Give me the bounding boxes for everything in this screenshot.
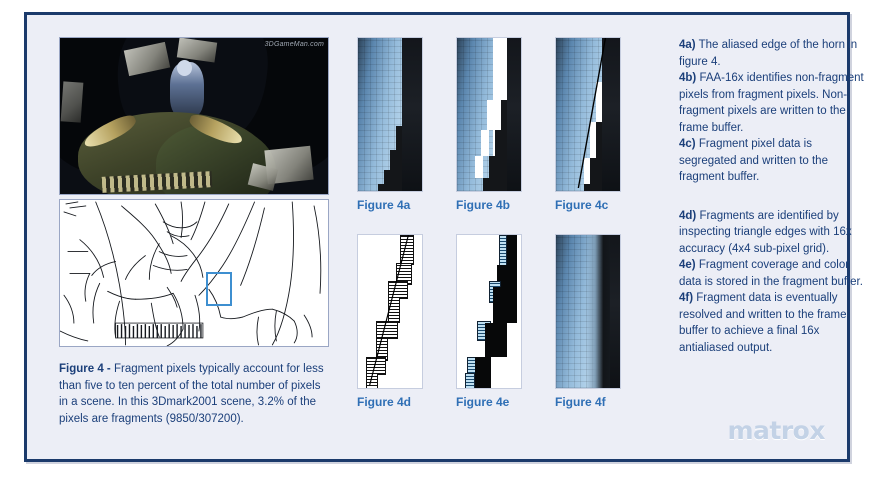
3dmark2001-scene-image: 3DGameMan.com bbox=[59, 37, 329, 195]
figure-cell-4a: Figure 4a bbox=[357, 37, 423, 212]
figure-4c-label: Figure 4c bbox=[555, 198, 621, 212]
description-4e: 4e) Fragment coverage and color data is … bbox=[679, 257, 869, 290]
label-4b: 4b) bbox=[679, 72, 696, 84]
zoom-highlight-rectangle bbox=[206, 272, 232, 306]
text-4a: The aliased edge of the horn in figure 4… bbox=[679, 39, 857, 68]
right-column: 4a) The aliased edge of the horn in figu… bbox=[679, 37, 869, 356]
text-4e: Fragment coverage and color data is stor… bbox=[679, 259, 863, 288]
fragment-color-block-1 bbox=[499, 235, 507, 267]
label-4f: 4f) bbox=[679, 292, 693, 304]
figure-4d-label: Figure 4d bbox=[357, 395, 423, 409]
dark-region bbox=[402, 38, 423, 191]
label-4c: 4c) bbox=[679, 138, 696, 150]
figure-4-caption: Figure 4 - Fragment pixels typically acc… bbox=[59, 361, 327, 427]
dark-region bbox=[507, 38, 522, 191]
caption-lead: Figure 4 - bbox=[59, 363, 111, 375]
document-panel: 3DGameMan.com bbox=[24, 12, 850, 462]
description-4a: 4a) The aliased edge of the horn in figu… bbox=[679, 37, 869, 70]
figure-row-2: Figure 4d Figure 4e bbox=[357, 234, 647, 409]
matrox-logo: matrox bbox=[727, 416, 825, 445]
figure-4e-label: Figure 4e bbox=[456, 395, 522, 409]
white-notch-3 bbox=[475, 156, 483, 178]
label-4d: 4d) bbox=[679, 210, 696, 222]
stair-step-2 bbox=[495, 130, 501, 191]
figure-4b-image bbox=[456, 37, 522, 192]
figure-cell-4d: Figure 4d bbox=[357, 234, 423, 409]
label-4a: 4a) bbox=[679, 39, 696, 51]
white-notch-1 bbox=[487, 100, 495, 130]
stair-step-3 bbox=[489, 156, 495, 191]
text-4c: Fragment pixel data is segregated and wr… bbox=[679, 138, 828, 183]
scene-watermark: 3DGameMan.com bbox=[265, 41, 324, 48]
figure-4b-label: Figure 4b bbox=[456, 198, 522, 212]
stair-step-4 bbox=[378, 184, 384, 191]
figure-4c-image bbox=[555, 37, 621, 192]
text-4f: Fragment data is eventually resolved and… bbox=[679, 292, 846, 354]
figure-4a-label: Figure 4a bbox=[357, 198, 423, 212]
black-fill-3 bbox=[493, 287, 517, 323]
debris-block-5 bbox=[61, 81, 84, 122]
fragment-color-block-5 bbox=[465, 373, 475, 389]
figure-cell-4f: Figure 4f bbox=[555, 234, 621, 409]
black-fill-5 bbox=[475, 357, 491, 389]
figure-cell-4c: Figure 4c bbox=[555, 37, 621, 212]
triangle-edge-line bbox=[556, 38, 620, 188]
description-block-2: 4d) Fragments are identified by inspecti… bbox=[679, 208, 869, 357]
description-4f: 4f) Fragment data is eventually resolved… bbox=[679, 290, 869, 356]
figure-grid: Figure 4a Figure 4b bbox=[357, 37, 647, 409]
figure-4e-image bbox=[456, 234, 522, 389]
stair-step-3 bbox=[384, 170, 390, 191]
figure-cell-4e: Figure 4e bbox=[456, 234, 522, 409]
description-4b: 4b) FAA-16x identifies non-fragment pixe… bbox=[679, 70, 869, 136]
description-block-1: 4a) The aliased edge of the horn in figu… bbox=[679, 37, 869, 186]
figure-4f-image bbox=[555, 234, 621, 389]
figure-4f-label: Figure 4f bbox=[555, 395, 621, 409]
figure-4a-image bbox=[357, 37, 423, 192]
stair-step-1 bbox=[396, 126, 402, 191]
left-column: 3DGameMan.com bbox=[59, 37, 329, 427]
white-notch-2 bbox=[481, 130, 489, 156]
antialiased-edge bbox=[586, 235, 610, 388]
stair-step-4 bbox=[483, 178, 489, 191]
label-4e: 4e) bbox=[679, 259, 696, 271]
text-4d: Fragments are identified by inspecting t… bbox=[679, 210, 852, 255]
stair-step-1 bbox=[501, 100, 507, 191]
wireframe-lines bbox=[60, 200, 328, 347]
edge-detection-wireframe-image bbox=[59, 199, 329, 347]
figure-row-1: Figure 4a Figure 4b bbox=[357, 37, 647, 212]
stair-step-2 bbox=[390, 150, 396, 191]
figure-cell-4b: Figure 4b bbox=[456, 37, 522, 212]
description-4d: 4d) Fragments are identified by inspecti… bbox=[679, 208, 869, 258]
black-fill-4 bbox=[485, 323, 507, 357]
rider-head bbox=[177, 60, 192, 76]
triangle-edge-line bbox=[358, 235, 422, 385]
description-4c: 4c) Fragment pixel data is segregated an… bbox=[679, 136, 869, 186]
text-4b: FAA-16x identifies non-fragment pixels f… bbox=[679, 72, 864, 134]
figure-4d-image bbox=[357, 234, 423, 389]
